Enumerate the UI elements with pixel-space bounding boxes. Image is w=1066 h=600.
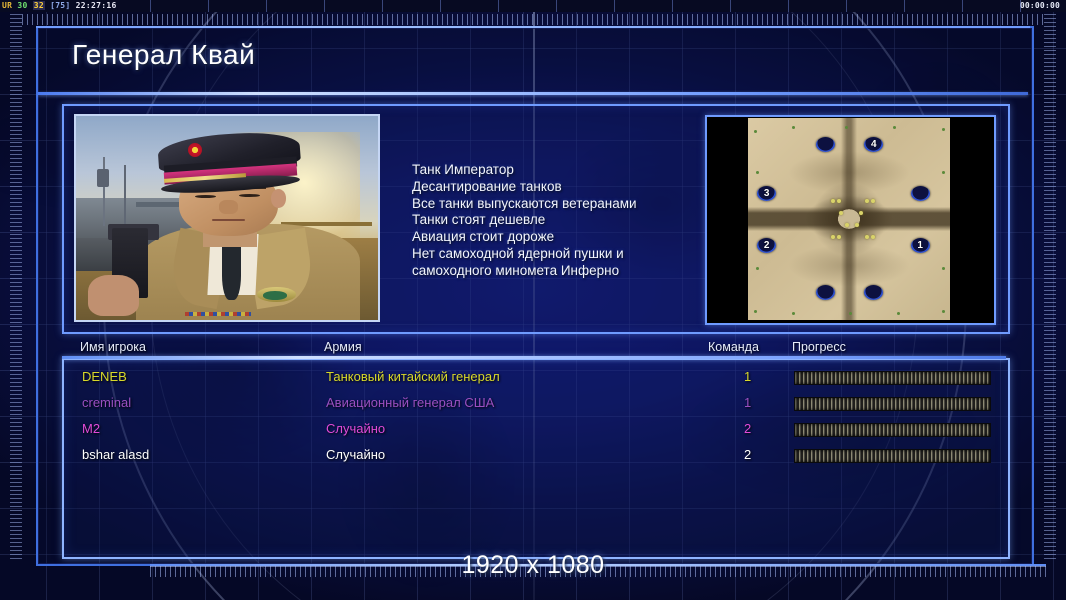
map-preview-frame[interactable]: 4321 bbox=[705, 115, 996, 325]
portrait-hand bbox=[88, 275, 139, 316]
player-army: Случайно bbox=[326, 416, 385, 442]
map-terrain-marker bbox=[942, 128, 945, 131]
portrait-ear bbox=[271, 189, 286, 207]
fps-counter: UR 30 32 [75] 22:27:16 bbox=[2, 0, 117, 12]
portrait-pole bbox=[103, 157, 105, 226]
resolution-label: 1920 x 1080 bbox=[0, 551, 1066, 580]
map-start-position: 2 bbox=[757, 238, 776, 253]
portrait-pole-2 bbox=[124, 165, 126, 226]
player-name: creminal bbox=[82, 390, 131, 416]
player-progress-bar bbox=[794, 423, 991, 437]
ability-item: Авиация стоит дороже bbox=[412, 229, 702, 246]
map-start-position bbox=[816, 137, 835, 152]
map-terrain-marker bbox=[942, 267, 945, 270]
map-terrain-marker bbox=[756, 171, 759, 174]
ability-item: Все танки выпускаются ветеранами bbox=[412, 196, 702, 213]
status-bar-tick bbox=[440, 0, 441, 12]
fps-bracket: [75] bbox=[50, 1, 70, 10]
player-army: Танковый китайский генерал bbox=[326, 364, 500, 390]
fps-value: 30 bbox=[17, 1, 27, 10]
map-terrain-marker bbox=[756, 267, 759, 270]
portrait-tie bbox=[222, 238, 240, 299]
ability-item: Десантирование танков bbox=[412, 179, 702, 196]
map-resource-marker bbox=[837, 235, 841, 239]
portrait-ribbon-bar bbox=[185, 312, 251, 316]
player-row[interactable]: DENEBТанковый китайский генерал1 bbox=[64, 364, 1008, 390]
ability-item: Танк Император bbox=[412, 162, 702, 179]
player-progress-bar bbox=[794, 449, 991, 463]
status-bar-tick bbox=[614, 0, 615, 12]
status-bar-tick bbox=[846, 0, 847, 12]
map-resource-marker bbox=[831, 235, 835, 239]
column-header-name: Имя игрока bbox=[80, 340, 146, 354]
map-start-position bbox=[911, 186, 930, 201]
player-row[interactable]: creminalАвиационный генерал США1 bbox=[64, 390, 1008, 416]
map-terrain-marker bbox=[942, 171, 945, 174]
player-name: M2 bbox=[82, 416, 100, 442]
player-team: 2 bbox=[744, 442, 751, 468]
status-bar-tick bbox=[556, 0, 557, 12]
map-terrain-marker bbox=[792, 312, 795, 315]
player-army: Авиационный генерал США bbox=[326, 390, 494, 416]
map-resource-marker bbox=[845, 223, 849, 227]
ability-item: Танки стоят дешевле bbox=[412, 212, 702, 229]
status-bar-tick bbox=[962, 0, 963, 12]
status-bar-tick bbox=[208, 0, 209, 12]
map-terrain-marker bbox=[845, 126, 848, 129]
status-bar-tick bbox=[788, 0, 789, 12]
portrait-mouth bbox=[212, 219, 245, 221]
map-start-position bbox=[864, 285, 883, 300]
map-terrain-marker bbox=[754, 310, 757, 313]
player-progress-bar bbox=[794, 371, 991, 385]
portrait-tower bbox=[97, 169, 109, 187]
ability-item: самоходного миномета Инферно bbox=[412, 263, 702, 280]
status-bar-tick bbox=[1020, 0, 1021, 12]
map-resource-marker bbox=[865, 235, 869, 239]
player-table-rule bbox=[62, 356, 1006, 359]
map-resource-marker bbox=[839, 211, 843, 215]
map-start-position: 4 bbox=[864, 137, 883, 152]
portrait-eye-right bbox=[239, 194, 260, 197]
status-bar-tick bbox=[730, 0, 731, 12]
map-resource-marker bbox=[871, 199, 875, 203]
map-terrain-marker bbox=[754, 130, 757, 133]
player-list-panel: DENEBТанковый китайский генерал1creminal… bbox=[62, 358, 1010, 559]
map-resource-marker bbox=[831, 199, 835, 203]
column-header-team: Команда bbox=[708, 340, 759, 354]
general-portrait bbox=[74, 114, 380, 322]
player-army: Случайно bbox=[326, 442, 385, 468]
status-bar-tick bbox=[324, 0, 325, 12]
status-bar-tick bbox=[904, 0, 905, 12]
map-resource-marker bbox=[865, 199, 869, 203]
column-header-army: Армия bbox=[324, 340, 362, 354]
player-name: bshar alasd bbox=[82, 442, 149, 468]
status-bar-tick bbox=[498, 0, 499, 12]
column-header-progress: Прогресс bbox=[792, 340, 846, 354]
status-bar: UR 30 32 [75] 22:27:16 00:00:00 bbox=[0, 0, 1066, 12]
status-bar-tick bbox=[382, 0, 383, 12]
fps-alt-value: 32 bbox=[33, 1, 45, 10]
map-terrain-marker bbox=[792, 126, 795, 129]
player-team: 1 bbox=[744, 364, 751, 390]
status-bar-tick bbox=[672, 0, 673, 12]
map-resource-marker bbox=[855, 223, 859, 227]
portrait-chest-badge-center bbox=[263, 291, 287, 299]
page-title: Генерал Квай bbox=[72, 39, 255, 71]
portrait-nose bbox=[219, 200, 237, 214]
map-start-position: 1 bbox=[911, 238, 930, 253]
map-start-position bbox=[816, 285, 835, 300]
player-team: 1 bbox=[744, 390, 751, 416]
player-row[interactable]: bshar alasdСлучайно2 bbox=[64, 442, 1008, 468]
fps-prefix: UR bbox=[2, 1, 12, 10]
status-bar-tick bbox=[150, 0, 151, 12]
map-resource-marker bbox=[837, 199, 841, 203]
status-bar-tick bbox=[266, 0, 267, 12]
map-terrain-marker bbox=[893, 126, 896, 129]
map-resource-marker bbox=[871, 235, 875, 239]
map-terrain-marker bbox=[897, 312, 900, 315]
player-row[interactable]: M2Случайно2 bbox=[64, 416, 1008, 442]
game-lobby-screen: UR 30 32 [75] 22:27:16 00:00:00 Генерал … bbox=[0, 0, 1066, 600]
map-terrain-marker bbox=[849, 312, 852, 315]
map-resource-marker bbox=[859, 211, 863, 215]
map-start-position: 3 bbox=[757, 186, 776, 201]
portrait-cap-badge-icon bbox=[188, 143, 202, 157]
ability-item: Нет самоходной ядерной пушки и bbox=[412, 246, 702, 263]
title-underline bbox=[38, 92, 1028, 95]
map-terrain-marker bbox=[942, 310, 945, 313]
portrait-eye-left bbox=[195, 195, 216, 198]
map-preview-image: 4321 bbox=[748, 118, 950, 320]
player-progress-bar bbox=[794, 397, 991, 411]
session-time: 22:27:16 bbox=[76, 1, 117, 10]
clock-readout: 00:00:00 bbox=[1020, 0, 1060, 12]
player-name: DENEB bbox=[82, 364, 127, 390]
player-team: 2 bbox=[744, 416, 751, 442]
title-bar: Генерал Квай bbox=[38, 28, 1028, 92]
general-abilities-list: Танк Император Десантирование танков Все… bbox=[412, 162, 702, 280]
